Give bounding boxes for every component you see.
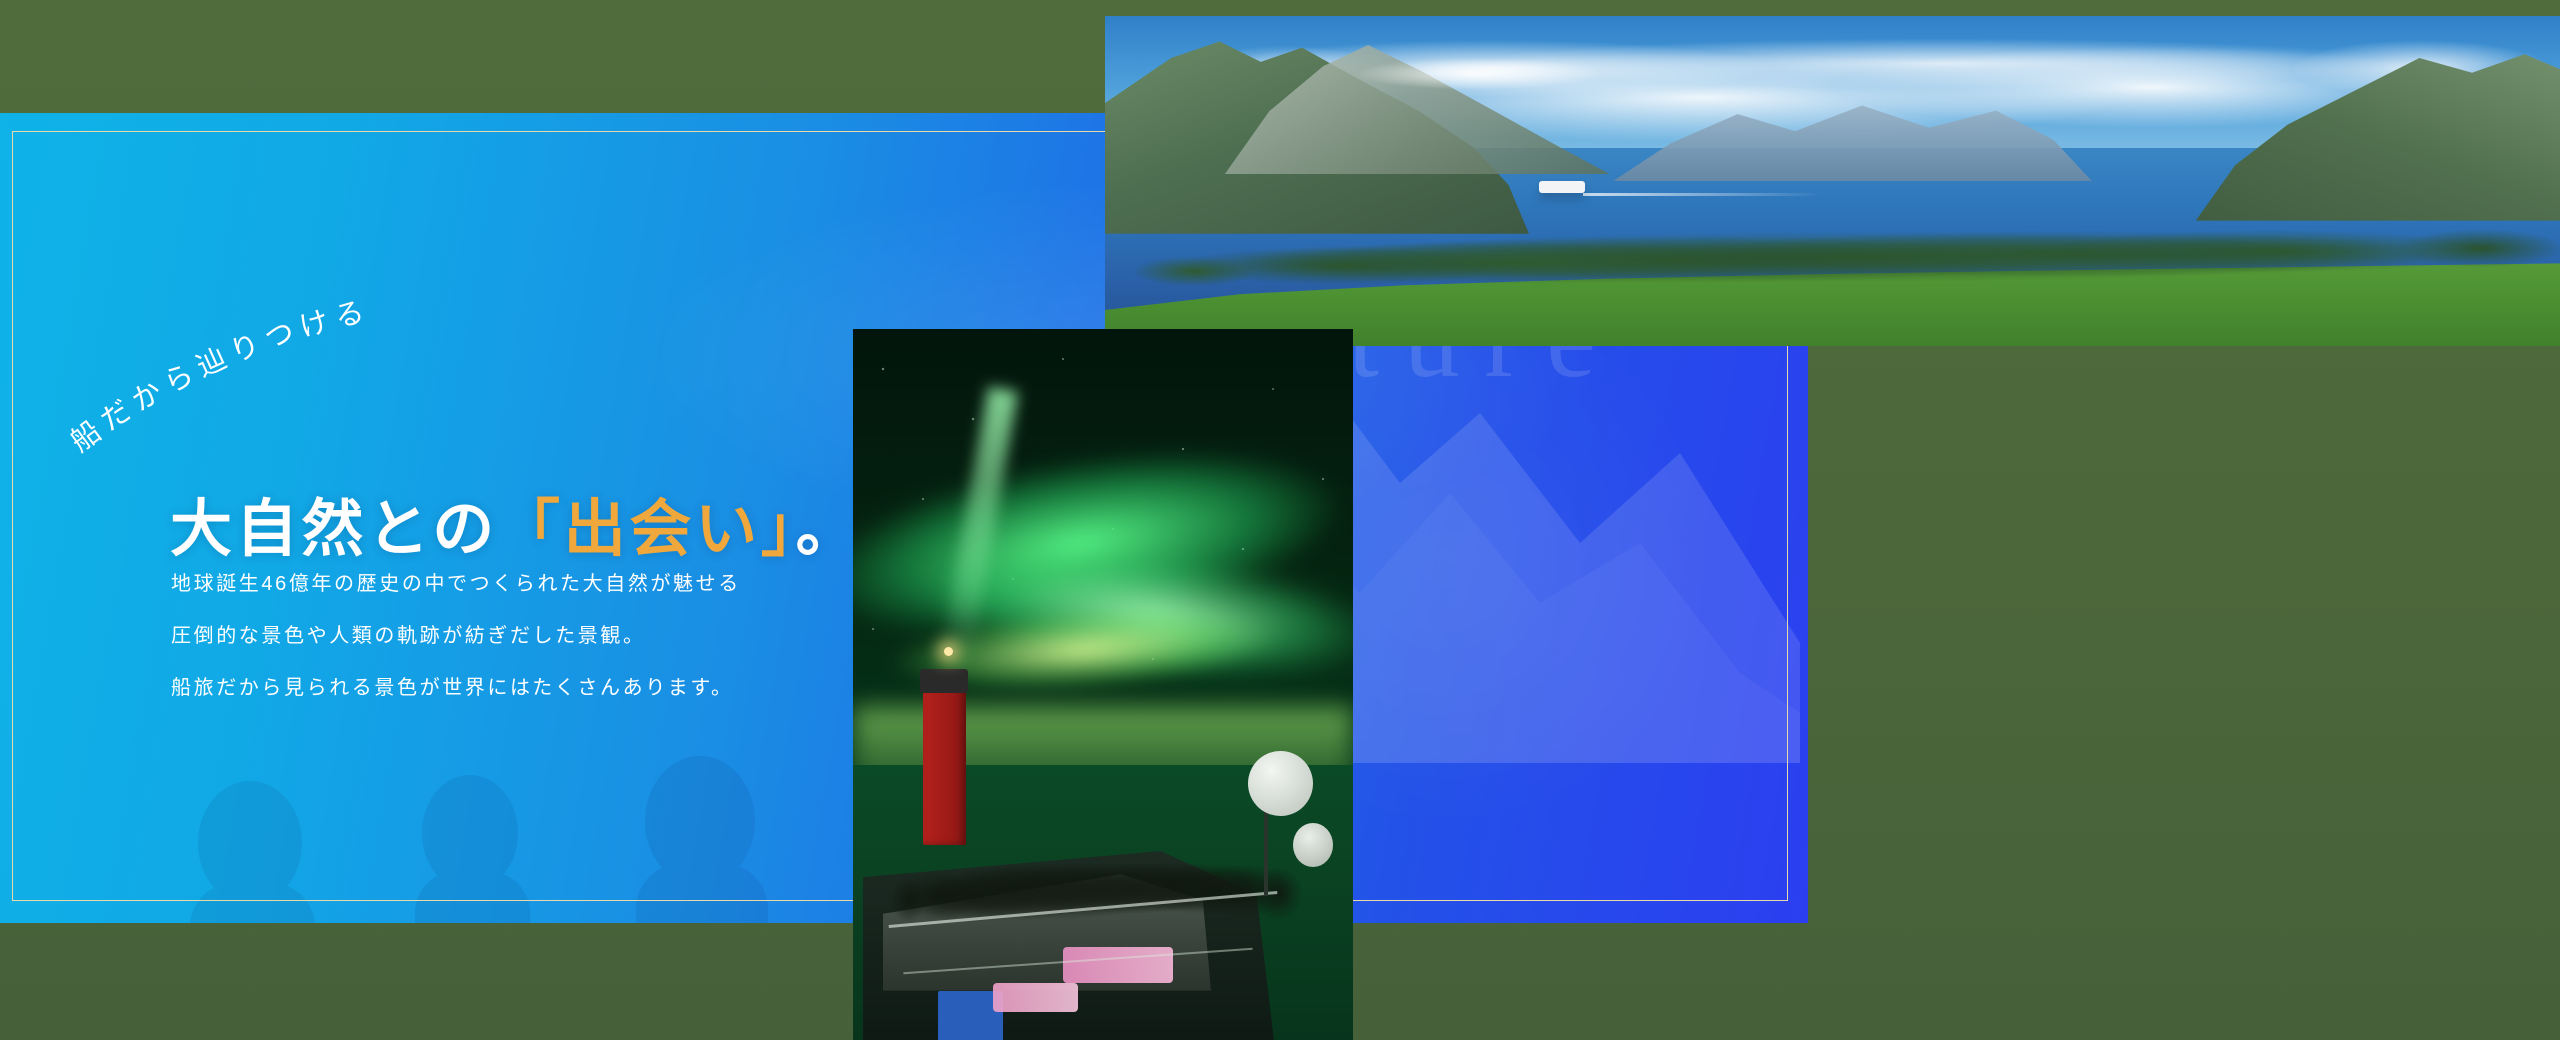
headline-tail: 。 [796,496,862,564]
aurora-photo [853,329,1353,1040]
deck-awning-primary [1063,947,1173,983]
aurora-photo-inner [853,329,1353,1040]
radar-dome-large [1248,751,1313,816]
fjord-tree-line [1105,221,2560,294]
fjord-photo [1105,16,2560,346]
headline-main: 大自然との [170,496,498,564]
description-line-1: 地球誕生46億年の歴史の中でつくられた大自然が魅せる [171,558,741,610]
headline-accent: 「出会い」 [498,496,796,564]
page-title: 大自然との「出会い」。 [170,499,861,561]
description-line-2: 圧倒的な景色や人類の軌跡が紡ぎだした景観。 [171,610,741,662]
fjord-snow-cap [1314,42,1643,95]
fjord-ship-wake [1583,193,1822,196]
page-root: Nature 船だから辿りつける 大自然との「出会い」。 地球誕生46億年の歴史… [0,0,2560,1040]
deck-awning-secondary [993,983,1078,1012]
radar-dome-small [1293,823,1333,867]
ship-funnel [923,685,966,845]
description-line-3: 船旅だから見られる景色が世界にはたくさんあります。 [171,662,741,714]
ship-funnel-cap [920,669,968,692]
cruise-ship-icon [1539,181,1585,193]
section-description: 地球誕生46億年の歴史の中でつくられた大自然が魅せる 圧倒的な景色や人類の軌跡が… [171,558,741,714]
